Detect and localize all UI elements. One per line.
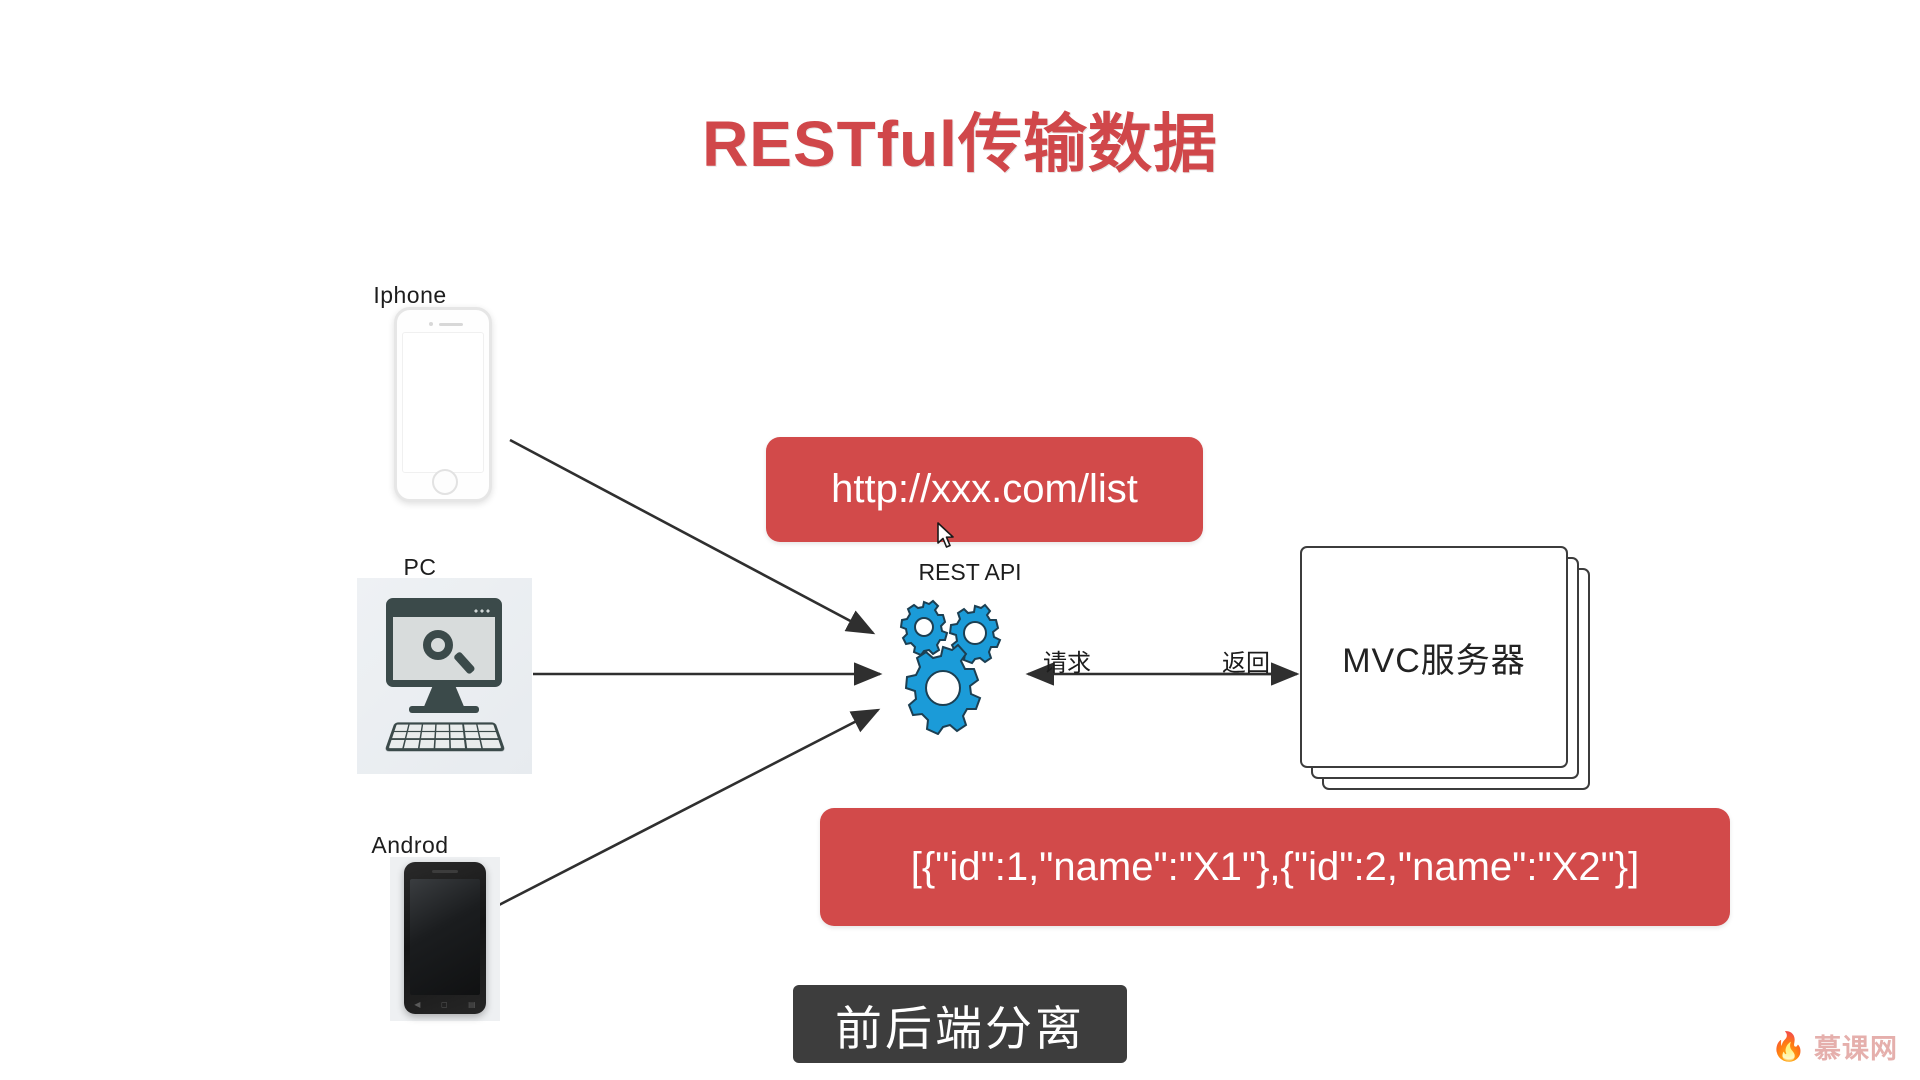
android-back-icon: ◀ [414, 1000, 420, 1009]
android-speaker-icon [432, 870, 458, 873]
iphone-screen [402, 332, 484, 473]
android-home-icon: ◻ [441, 1000, 448, 1009]
rest-api-label: REST API [880, 559, 1060, 586]
url-badge[interactable]: http://xxx.com/list [766, 437, 1203, 542]
iphone-speaker-icon [439, 323, 463, 326]
server-label: MVC服务器 [1342, 633, 1526, 682]
android-navbar-icon: ◀ ◻ ▤ [404, 998, 486, 1010]
client-label-pc: PC [370, 554, 470, 581]
magnifier-handle-icon [453, 651, 476, 675]
slide-canvas: RESTful传输数据 Iphone PC [0, 0, 1920, 1080]
gears-icon [888, 595, 1020, 735]
watermark-text: 慕课网 [1814, 1027, 1898, 1066]
monitor-icon [386, 598, 502, 687]
request-label: 请求 [1043, 643, 1091, 678]
server-card-front: MVC服务器 [1300, 546, 1568, 768]
client-label-iphone: Iphone [340, 282, 480, 309]
flame-icon: 🔥 [1771, 1033, 1807, 1061]
client-label-android: Androd [340, 832, 480, 859]
android-phone-icon: ◀ ◻ ▤ [404, 862, 486, 1014]
json-response-badge[interactable]: [{"id":1,"name":"X1"},{"id":2,"name":"X2… [820, 808, 1730, 926]
return-label: 返回 [1222, 643, 1270, 678]
browser-dots-icon [474, 609, 490, 613]
magnifier-icon [423, 630, 453, 660]
android-screen [410, 879, 480, 995]
separation-badge: 前后端分离 [793, 985, 1127, 1063]
mouse-pointer-icon [936, 522, 956, 550]
iphone-home-button-icon [432, 469, 458, 495]
stacked-cards-icon: MVC服务器 [1300, 546, 1590, 789]
monitor-base [409, 706, 479, 713]
keyboard-icon [384, 722, 505, 751]
iphone-camera-icon [429, 322, 433, 326]
iphone-device-icon [394, 307, 492, 502]
watermark: 🔥 慕课网 [1771, 1027, 1898, 1066]
android-menu-icon: ▤ [468, 1000, 476, 1009]
